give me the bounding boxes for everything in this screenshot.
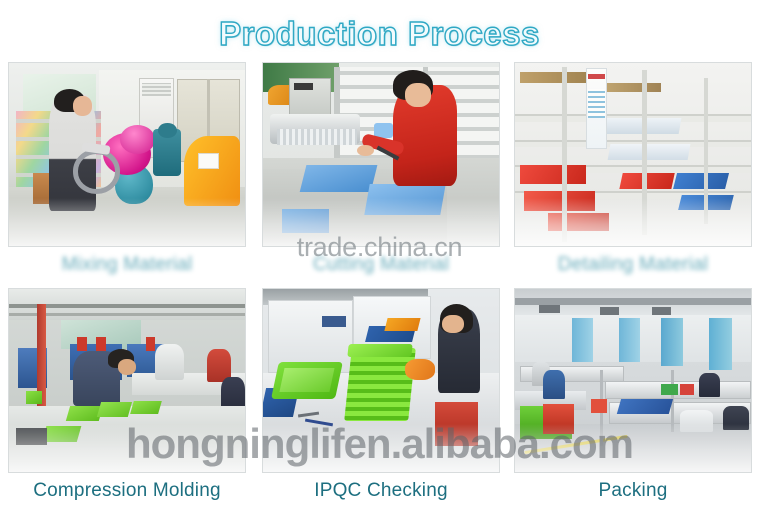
process-step-caption: IPQC Checking	[262, 479, 500, 503]
process-step-2[interactable]: Cutting Material	[262, 62, 500, 277]
red-stool	[435, 402, 477, 446]
page-title: Production Process	[219, 14, 540, 54]
blue-material-sheet-2	[364, 184, 445, 215]
blue-curtain-4	[709, 318, 733, 369]
blue-curtain-1	[572, 318, 593, 362]
green-tray-stack	[344, 348, 415, 421]
green-tray-stack-top	[347, 344, 412, 357]
worker-background-1	[155, 344, 183, 381]
machine-red-part-3	[146, 337, 155, 352]
blue-material-sheet-1	[300, 165, 378, 192]
process-step-caption: Cutting Material	[262, 253, 500, 277]
production-process-banner: Production Process	[0, 0, 759, 520]
process-row-top: Mixing Material	[0, 62, 759, 284]
packing-worker-3	[699, 373, 720, 397]
green-product-stack-2	[97, 402, 132, 417]
process-photo-packing[interactable]	[514, 288, 752, 473]
blue-item-on-shelf	[322, 316, 346, 327]
orange-material-on-bench	[384, 318, 420, 331]
shelf-label-lines	[588, 89, 605, 118]
shelf-post-3	[704, 78, 708, 224]
title-bar: Production Process	[0, 14, 759, 60]
worker-foreground-face	[118, 359, 137, 375]
weighing-scale	[16, 428, 47, 444]
packing-worker-2	[543, 370, 564, 399]
process-step-6[interactable]: Packing	[514, 288, 752, 503]
process-row-bottom: Compression Molding	[0, 288, 759, 514]
red-material-sheet-1	[520, 165, 586, 183]
green-product-stack-4	[42, 426, 82, 442]
red-material-sheet-3	[548, 213, 609, 231]
process-step-caption: Packing	[514, 479, 752, 503]
ceiling-lamp-3	[652, 307, 671, 314]
machine-red-part-2	[96, 337, 105, 352]
process-step-caption: Compression Molding	[8, 479, 246, 503]
shelf-post-1	[562, 67, 567, 243]
ceiling-duct	[515, 298, 751, 305]
red-bin-2	[680, 384, 694, 395]
air-conditioner-vent	[142, 83, 170, 96]
red-trolley	[543, 404, 574, 433]
process-step-1[interactable]: Mixing Material	[8, 62, 246, 277]
green-product-stack-3	[130, 401, 162, 414]
process-step-caption: Detailing Material	[514, 253, 752, 277]
blue-curtain-3	[661, 318, 682, 366]
process-step-4[interactable]: Compression Molding	[8, 288, 246, 503]
control-panel-display	[294, 83, 313, 90]
inspector-gloves	[405, 359, 436, 381]
process-photo-compression-molding[interactable]	[8, 288, 246, 473]
blue-material-sheet-3	[282, 209, 329, 233]
blue-material-roll-3	[693, 144, 743, 157]
machine-red-part-1	[77, 337, 86, 352]
wrapped-material-2	[608, 144, 691, 160]
machine-label	[198, 153, 219, 169]
wrapped-material-1	[599, 118, 682, 134]
packing-worker-4	[680, 410, 713, 432]
process-photo-cutting-material[interactable]	[262, 62, 500, 247]
roller-ribs	[277, 129, 357, 145]
worker-face	[405, 83, 431, 107]
process-step-3[interactable]: Detailing Material	[514, 62, 752, 277]
process-photo-ipqc-checking[interactable]	[262, 288, 500, 473]
blue-packed-goods	[617, 399, 673, 414]
green-bin	[661, 384, 678, 395]
inspector-face	[442, 315, 463, 333]
packing-worker-5	[723, 406, 749, 430]
blue-material-roll-1	[673, 173, 729, 189]
process-step-5[interactable]: IPQC Checking	[262, 288, 500, 503]
shelf-label-header	[588, 74, 605, 79]
green-product-back	[26, 391, 43, 404]
ceiling-lamp-2	[600, 307, 619, 314]
blue-curtain-2	[619, 318, 640, 362]
green-tray-interior	[279, 368, 334, 392]
process-photo-detailing-material[interactable]	[514, 62, 752, 247]
red-bin	[591, 399, 608, 414]
ceiling-lamp-1	[539, 305, 560, 312]
yellow-machine-guard	[184, 136, 241, 206]
machine-motor	[158, 123, 177, 138]
handwheel	[73, 149, 121, 194]
red-material-sheet-2	[524, 191, 595, 211]
shelf-board-second	[600, 83, 661, 92]
shelf-post-2	[642, 70, 647, 235]
operator-face	[73, 96, 92, 116]
packing-bench-3	[605, 381, 751, 399]
process-step-caption: Mixing Material	[8, 253, 246, 277]
process-photo-mixing-material[interactable]	[8, 62, 246, 247]
